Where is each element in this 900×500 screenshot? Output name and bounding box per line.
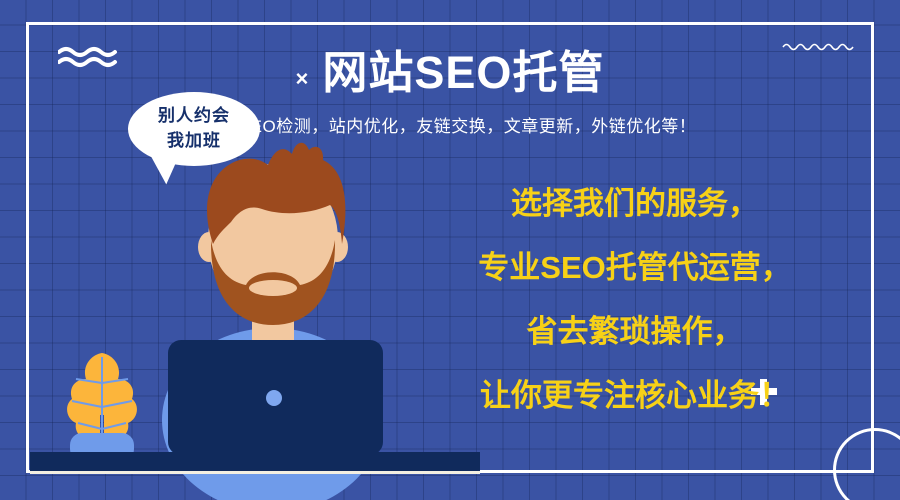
laptop-logo-icon bbox=[266, 390, 282, 406]
seo-hosting-banner: × 网站SEO托管 含：SEO检测，站内优化，友链交换，文章更新，外链优化等！ … bbox=[0, 0, 900, 500]
laptop-illustration bbox=[168, 340, 383, 455]
plant-illustration bbox=[52, 345, 152, 460]
speech-bubble-line: 我加班 bbox=[167, 129, 221, 154]
speech-bubble: 别人约会 我加班 bbox=[128, 92, 260, 166]
speech-bubble-line: 别人约会 bbox=[158, 104, 230, 129]
desk-surface bbox=[30, 452, 480, 472]
desk-edge bbox=[30, 471, 480, 474]
